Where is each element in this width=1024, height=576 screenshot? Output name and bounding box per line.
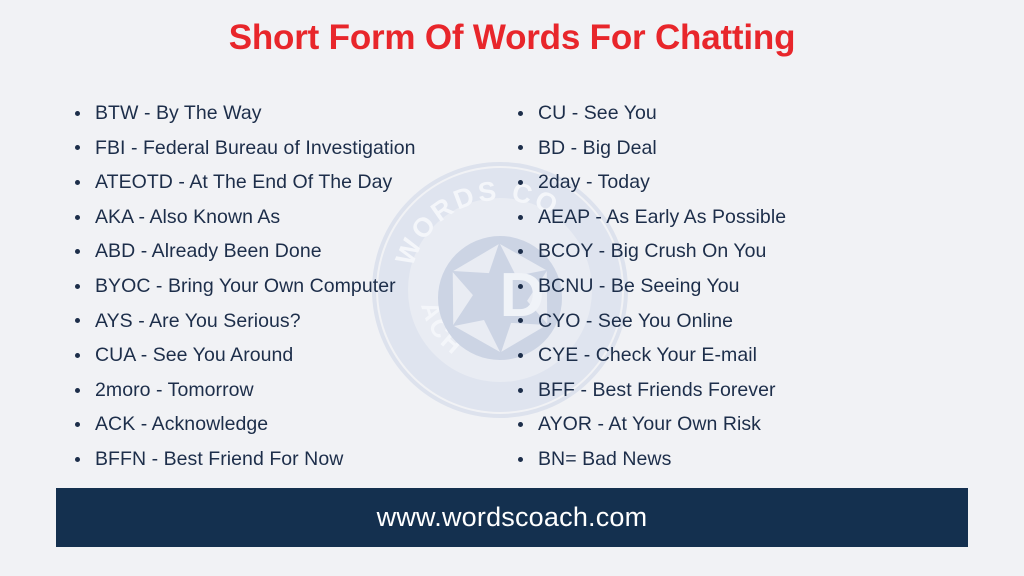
list-item-label: AYOR - At Your Own Risk: [538, 413, 761, 435]
list-item: ACK - Acknowledge: [74, 407, 470, 442]
bullet-icon: [518, 215, 523, 220]
list-item-label: ACK - Acknowledge: [95, 413, 268, 435]
list-item-label: AYS - Are You Serious?: [95, 310, 301, 332]
left-abbreviation-list: BTW - By The WayFBI - Federal Bureau of …: [74, 96, 470, 477]
bullet-icon: [518, 422, 523, 427]
list-item-label: CYE - Check Your E-mail: [538, 344, 757, 366]
right-column: CU - See YouBD - Big Deal2day - TodayAEA…: [470, 96, 1024, 478]
list-item: BCOY - Big Crush On You: [517, 234, 1024, 269]
left-column: BTW - By The WayFBI - Federal Bureau of …: [0, 96, 470, 478]
list-item-label: BFFN - Best Friend For Now: [95, 448, 343, 470]
list-item: CYO - See You Online: [517, 304, 1024, 339]
bullet-icon: [75, 180, 80, 185]
list-item-label: BCOY - Big Crush On You: [538, 240, 766, 262]
bullet-icon: [75, 318, 80, 323]
bullet-icon: [518, 180, 523, 185]
bullet-icon: [75, 145, 80, 150]
list-item: AYS - Are You Serious?: [74, 304, 470, 339]
list-item: FBI - Federal Bureau of Investigation: [74, 131, 470, 166]
list-item-label: 2moro - Tomorrow: [95, 379, 254, 401]
list-item: 2moro - Tomorrow: [74, 373, 470, 408]
list-item-label: CUA - See You Around: [95, 344, 293, 366]
bullet-icon: [75, 457, 80, 462]
list-item: CU - See You: [517, 96, 1024, 131]
footer-website-url[interactable]: www.wordscoach.com: [377, 502, 648, 533]
abbreviation-columns: BTW - By The WayFBI - Federal Bureau of …: [0, 96, 1024, 478]
list-item-label: CU - See You: [538, 102, 657, 124]
list-item-label: CYO - See You Online: [538, 310, 733, 332]
list-item: BCNU - Be Seeing You: [517, 269, 1024, 304]
list-item-label: BFF - Best Friends Forever: [538, 379, 776, 401]
list-item: BN= Bad News: [517, 442, 1024, 477]
list-item-label: ATEOTD - At The End Of The Day: [95, 171, 392, 193]
list-item: CYE - Check Your E-mail: [517, 338, 1024, 373]
list-item: BTW - By The Way: [74, 96, 470, 131]
list-item: BFF - Best Friends Forever: [517, 373, 1024, 408]
bullet-icon: [75, 388, 80, 393]
bullet-icon: [518, 318, 523, 323]
right-abbreviation-list: CU - See YouBD - Big Deal2day - TodayAEA…: [517, 96, 1024, 477]
list-item: BYOC - Bring Your Own Computer: [74, 269, 470, 304]
list-item: ATEOTD - At The End Of The Day: [74, 165, 470, 200]
list-item: AKA - Also Known As: [74, 200, 470, 235]
list-item-label: BD - Big Deal: [538, 137, 657, 159]
list-item: AYOR - At Your Own Risk: [517, 407, 1024, 442]
list-item: 2day - Today: [517, 165, 1024, 200]
bullet-icon: [75, 249, 80, 254]
list-item-label: AEAP - As Early As Possible: [538, 206, 786, 228]
bullet-icon: [518, 249, 523, 254]
bullet-icon: [75, 353, 80, 358]
footer-bar: www.wordscoach.com: [56, 488, 968, 547]
bullet-icon: [75, 215, 80, 220]
list-item-label: AKA - Also Known As: [95, 206, 280, 228]
list-item-label: ABD - Already Been Done: [95, 240, 322, 262]
list-item-label: 2day - Today: [538, 171, 650, 193]
bullet-icon: [518, 388, 523, 393]
bullet-icon: [518, 111, 523, 116]
bullet-icon: [75, 422, 80, 427]
bullet-icon: [518, 145, 523, 150]
bullet-icon: [75, 111, 80, 116]
bullet-icon: [518, 353, 523, 358]
list-item: CUA - See You Around: [74, 338, 470, 373]
list-item: AEAP - As Early As Possible: [517, 200, 1024, 235]
list-item-label: BYOC - Bring Your Own Computer: [95, 275, 396, 297]
bullet-icon: [518, 284, 523, 289]
list-item-label: BN= Bad News: [538, 448, 671, 470]
bullet-icon: [518, 457, 523, 462]
page-title: Short Form Of Words For Chatting: [0, 17, 1024, 59]
list-item-label: BTW - By The Way: [95, 102, 262, 124]
list-item: BD - Big Deal: [517, 131, 1024, 166]
bullet-icon: [75, 284, 80, 289]
list-item: ABD - Already Been Done: [74, 234, 470, 269]
list-item-label: BCNU - Be Seeing You: [538, 275, 740, 297]
list-item-label: FBI - Federal Bureau of Investigation: [95, 137, 416, 159]
slide-canvas: WORDS CO ACH D: [0, 0, 1024, 576]
list-item: BFFN - Best Friend For Now: [74, 442, 470, 477]
